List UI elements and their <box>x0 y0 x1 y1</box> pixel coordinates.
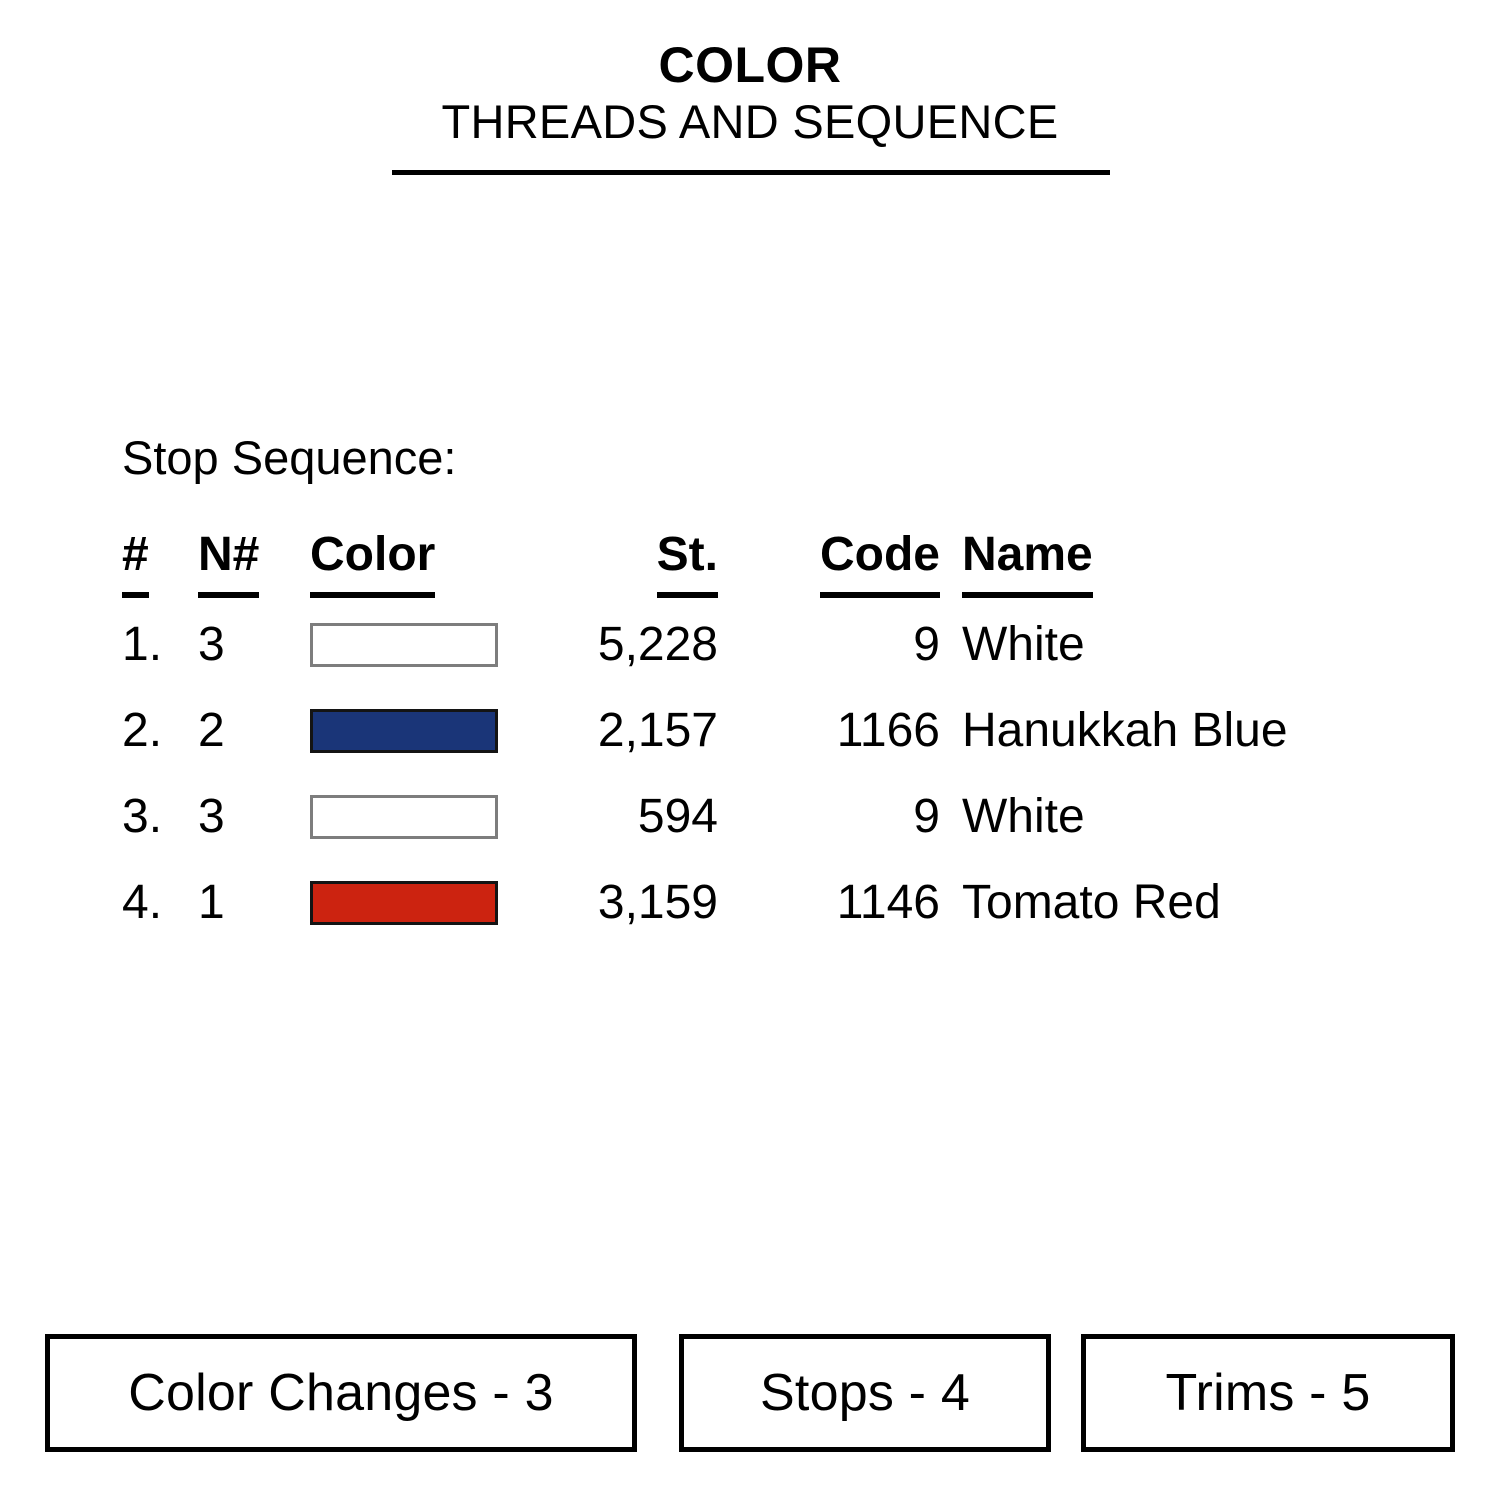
column-header-index: # <box>122 520 198 602</box>
cell-color-swatch <box>310 688 522 774</box>
color-swatch <box>310 795 498 839</box>
cell-stitches: 594 <box>522 774 726 860</box>
cell-needle: 1 <box>198 860 310 946</box>
cell-color-swatch <box>310 860 522 946</box>
cell-stitches: 5,228 <box>522 602 726 688</box>
table-row: 2. 2 2,157 1166 Hanukkah Blue <box>122 688 1288 774</box>
cell-code: 1166 <box>726 688 962 774</box>
cell-code: 9 <box>726 602 962 688</box>
column-header-color: Color <box>310 520 522 602</box>
column-header-name: Name <box>962 520 1288 602</box>
cell-code: 9 <box>726 774 962 860</box>
summary-trims: Trims - 5 <box>1081 1334 1455 1452</box>
column-header-code: Code <box>726 520 962 602</box>
cell-stitches: 2,157 <box>522 688 726 774</box>
title-divider-rule <box>392 170 1110 175</box>
table-row: 4. 1 3,159 1146 Tomato Red <box>122 860 1288 946</box>
table-row: 3. 3 594 9 White <box>122 774 1288 860</box>
stop-sequence-label: Stop Sequence: <box>122 430 457 486</box>
cell-name: White <box>962 774 1288 860</box>
cell-index: 1. <box>122 602 198 688</box>
document-title-block: COLOR THREADS AND SEQUENCE <box>0 36 1500 150</box>
cell-code: 1146 <box>726 860 962 946</box>
summary-stops: Stops - 4 <box>679 1334 1051 1452</box>
cell-needle: 2 <box>198 688 310 774</box>
page-subtitle: THREADS AND SEQUENCE <box>0 94 1500 150</box>
table-row: 1. 3 5,228 9 White <box>122 602 1288 688</box>
page-title: COLOR <box>0 36 1500 94</box>
table-header-row: # N# Color St. Code Name <box>122 520 1288 602</box>
color-swatch <box>310 881 498 925</box>
summary-boxes: Color Changes - 3 Stops - 4 Trims - 5 <box>0 1334 1500 1454</box>
stop-sequence-table: # N# Color St. Code Name 1. 3 5,228 9 Wh… <box>122 520 1288 946</box>
column-header-needle: N# <box>198 520 310 602</box>
cell-stitches: 3,159 <box>522 860 726 946</box>
cell-needle: 3 <box>198 602 310 688</box>
column-header-stitches: St. <box>522 520 726 602</box>
cell-name: Hanukkah Blue <box>962 688 1288 774</box>
cell-name: White <box>962 602 1288 688</box>
cell-color-swatch <box>310 774 522 860</box>
color-swatch <box>310 623 498 667</box>
summary-color-changes: Color Changes - 3 <box>45 1334 637 1452</box>
cell-color-swatch <box>310 602 522 688</box>
cell-index: 3. <box>122 774 198 860</box>
color-swatch <box>310 709 498 753</box>
cell-index: 2. <box>122 688 198 774</box>
cell-needle: 3 <box>198 774 310 860</box>
table-body: 1. 3 5,228 9 White 2. 2 2,157 1166 Hanuk… <box>122 602 1288 946</box>
cell-name: Tomato Red <box>962 860 1288 946</box>
cell-index: 4. <box>122 860 198 946</box>
